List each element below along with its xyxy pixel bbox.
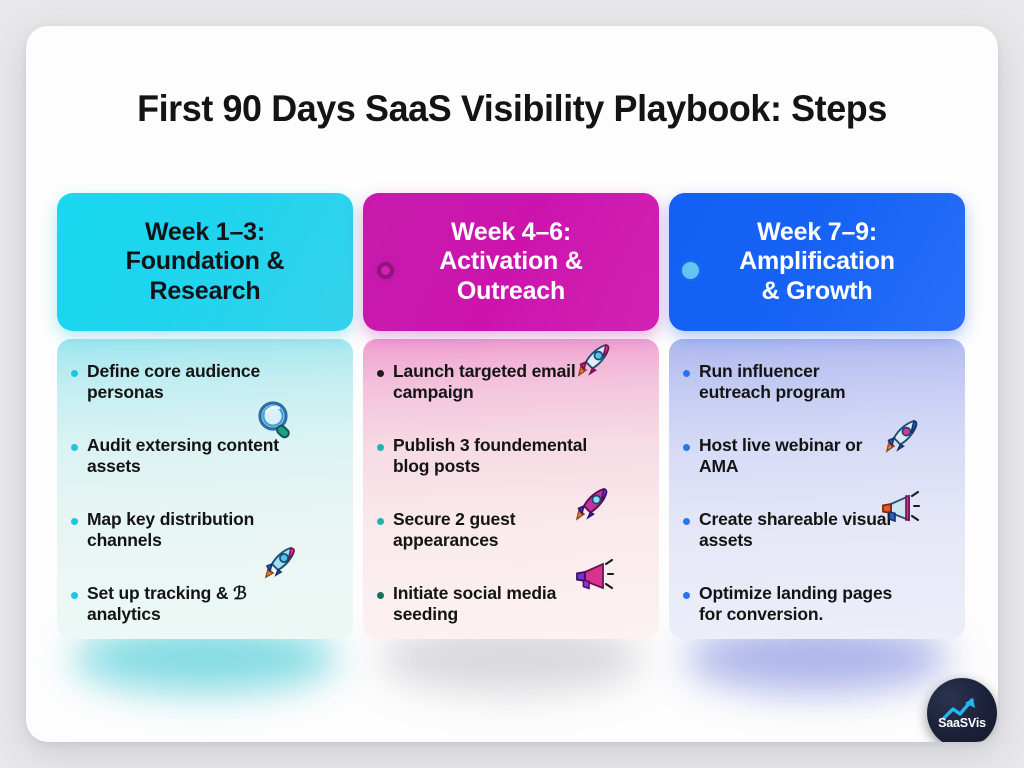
magnifier-icon (253, 397, 301, 445)
bullet-dot-icon (683, 518, 690, 525)
header-line-1: Week 1–3: (145, 218, 265, 246)
column-header-week-1-3[interactable]: Week 1–3: Foundation & Research (57, 193, 353, 331)
list-item: Run influencer eutreach program (683, 361, 949, 413)
header-line-2: Amplification (739, 247, 895, 275)
header-line-3: Outreach (457, 277, 565, 305)
header-line-3: Research (150, 277, 261, 305)
page-title: First 90 Days SaaS Visibility Playbook: … (41, 88, 984, 130)
column-week-4-6: Week 4–6: Activation & Outreach Launch t… (363, 193, 659, 639)
rocket-icon (567, 481, 615, 529)
bullet-dot-icon (377, 444, 384, 451)
column-header-week-4-6[interactable]: Week 4–6: Activation & Outreach (363, 193, 659, 331)
bullet-text: Map key distribution channels (87, 509, 283, 552)
connector-node-2 (682, 262, 699, 279)
column-header-week-7-9[interactable]: Week 7–9: Amplification & Growth (669, 193, 965, 331)
bullet-text: Optimize landing pages for conversion. (699, 583, 895, 626)
bullet-text: Create shareable visual assets (699, 509, 895, 552)
bullet-text: Launch targeted email campaign (393, 361, 589, 404)
bullet-dot-icon (71, 444, 78, 451)
column-body-week-7-9: Run influencer eutreach program Host liv… (669, 339, 965, 639)
bullet-dot-icon (683, 592, 690, 599)
header-line-2: Activation & (439, 247, 582, 275)
trend-arrow-icon (927, 678, 997, 742)
rocket-icon (569, 337, 617, 385)
bullet-text: Run influencer eutreach program (699, 361, 895, 404)
brand-badge-label: SaaSVis (927, 716, 997, 730)
bullet-dot-icon (377, 518, 384, 525)
columns-container: Week 1–3: Foundation & Research Define c… (57, 193, 967, 639)
bullet-text: Secure 2 guest appearances (393, 509, 589, 552)
bullet-text: Publish 3 foundemental blog posts (393, 435, 589, 478)
bullet-dot-icon (377, 592, 384, 599)
bullet-text: Initiate social media seeding (393, 583, 589, 626)
rocket-icon (877, 413, 925, 461)
header-line-1: Week 4–6: (451, 218, 571, 246)
slide-card: First 90 Days SaaS Visibility Playbook: … (26, 26, 998, 742)
column-week-1-3: Week 1–3: Foundation & Research Define c… (57, 193, 353, 639)
header-line-1: Week 7–9: (757, 218, 877, 246)
header-line-3: & Growth (762, 277, 873, 305)
column-body-week-1-3: Define core audience personas Audit exte… (57, 339, 353, 639)
bullet-dot-icon (683, 370, 690, 377)
bullet-dot-icon (683, 444, 690, 451)
rocket-icon (255, 539, 303, 587)
column-week-7-9: Week 7–9: Amplification & Growth Run inf… (669, 193, 965, 639)
megaphone-icon (567, 555, 615, 603)
megaphone-icon (873, 487, 921, 535)
bullet-text: Set up tracking & ℬ analytics (87, 583, 283, 626)
bullet-text: Host live webinar or AMA (699, 435, 895, 478)
column-body-week-4-6: Launch targeted email campaign Publish 3… (363, 339, 659, 639)
list-item: Publish 3 foundemental blog posts (377, 435, 643, 487)
connector-node-1 (377, 262, 394, 279)
list-item: Set up tracking & ℬ analytics (71, 583, 337, 635)
bullet-dot-icon (71, 370, 78, 377)
bullet-dot-icon (377, 370, 384, 377)
bullet-dot-icon (71, 592, 78, 599)
header-line-2: Foundation & (126, 247, 285, 275)
brand-badge[interactable]: SaaSVis (927, 678, 997, 742)
bullet-dot-icon (71, 518, 78, 525)
list-item: Optimize landing pages for conversion. (683, 583, 949, 635)
